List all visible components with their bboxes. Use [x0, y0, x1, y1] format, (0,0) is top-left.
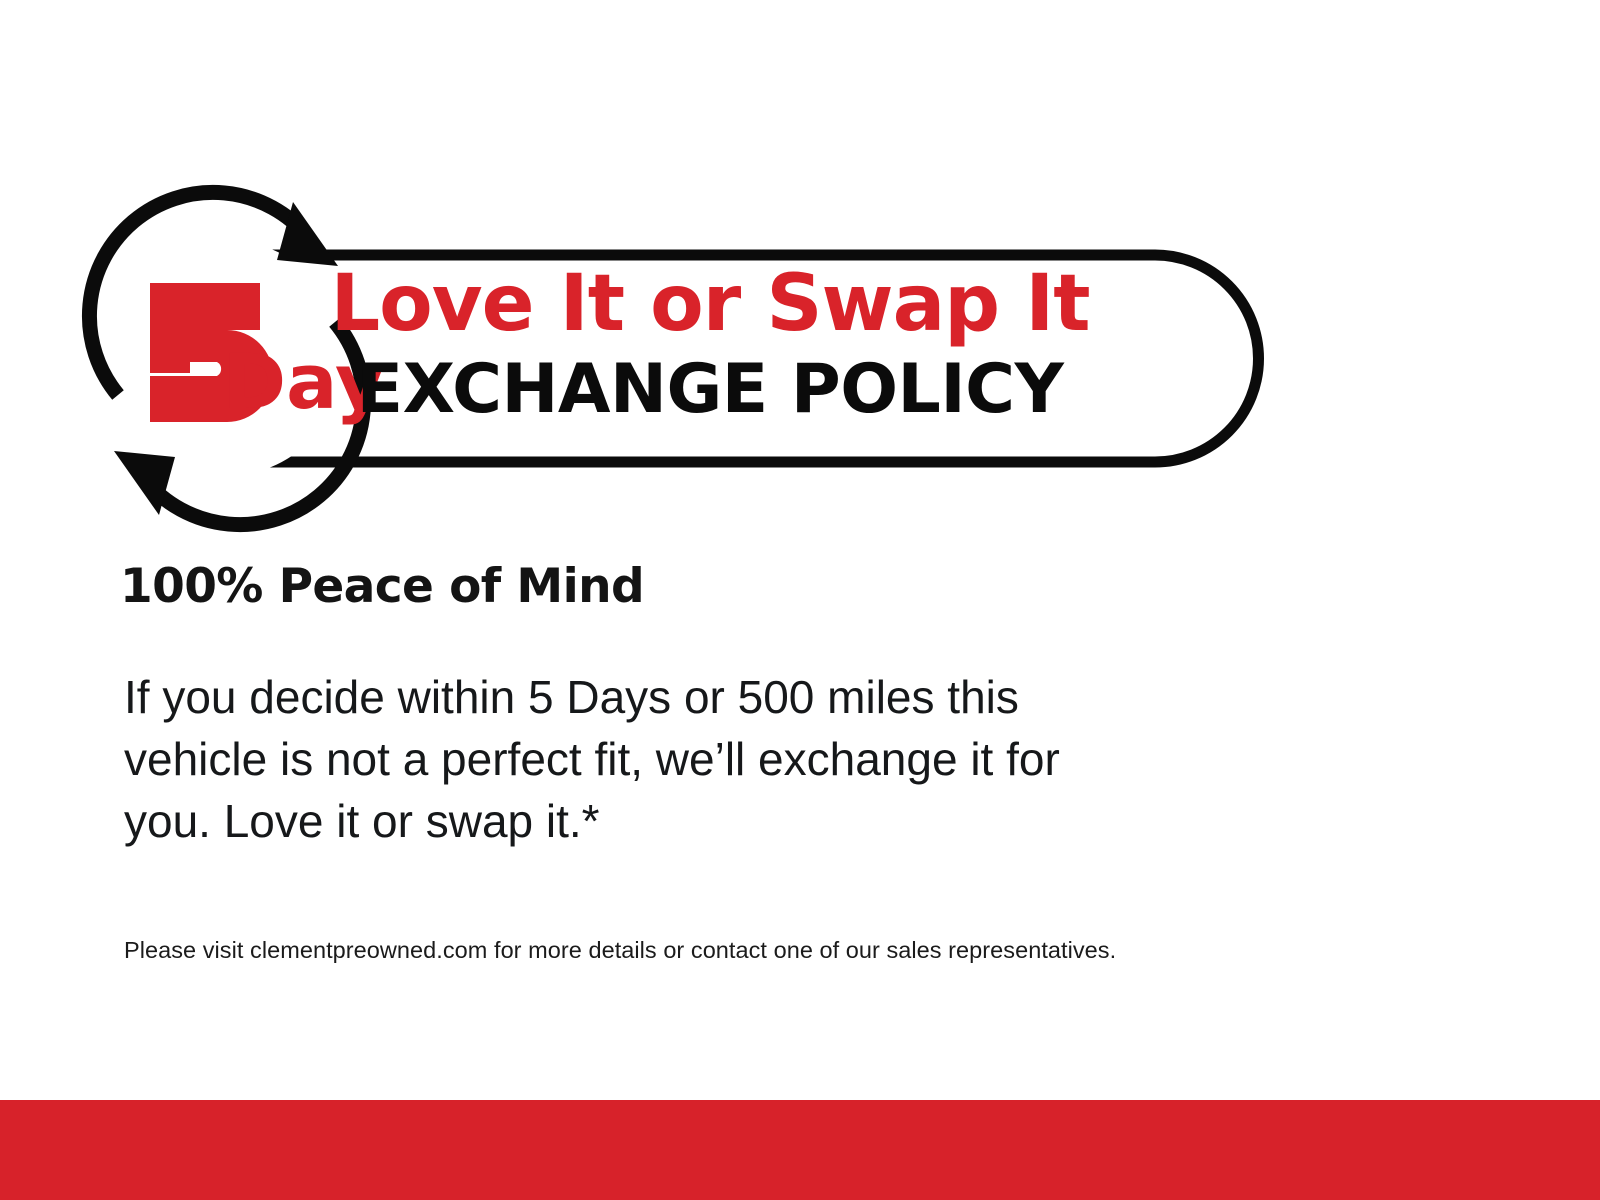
badge-subhead-black: EXCHANGE POLICY: [357, 350, 1065, 429]
exchange-policy-logo-lockup: Day Love It or Swap It EXCHANGE POLICY: [95, 190, 1295, 490]
page-headline: 100% Peace of Mind: [120, 563, 1420, 610]
footer-red-band: [0, 1100, 1600, 1200]
exchange-policy-page: Day Love It or Swap It EXCHANGE POLICY 1…: [0, 0, 1600, 1200]
body-line-3: you. Love it or swap it.*: [124, 790, 1324, 852]
body-line-1: If you decide within 5 Days or 500 miles…: [124, 666, 1324, 728]
policy-body-copy: If you decide within 5 Days or 500 miles…: [124, 666, 1324, 852]
fine-print-disclaimer: Please visit clementpreowned.com for mor…: [124, 935, 1474, 965]
headline-text: 100% Peace of Mind: [120, 563, 1420, 610]
badge-headline-red: Love It or Swap It: [330, 259, 1089, 349]
logo-lockup-svg: Day Love It or Swap It EXCHANGE POLICY: [95, 190, 1295, 490]
body-line-2: vehicle is not a perfect fit, we’ll exch…: [124, 728, 1324, 790]
